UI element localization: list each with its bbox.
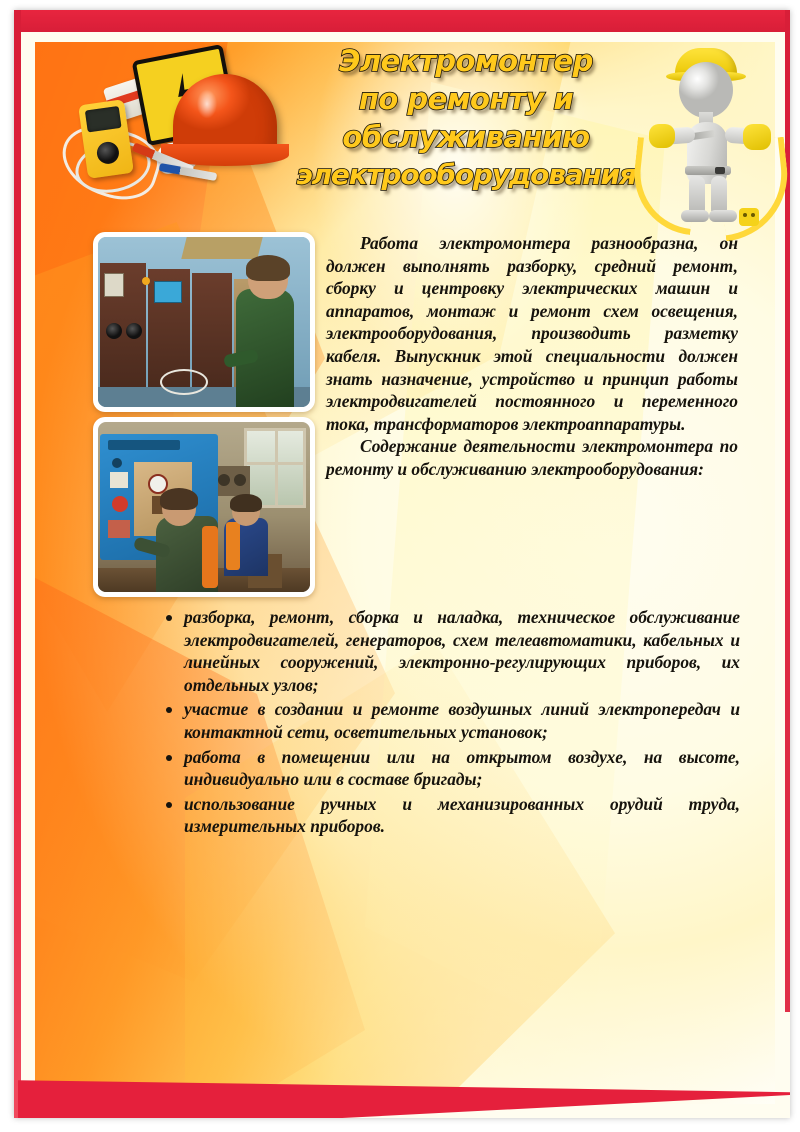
- mannequin-foot-left: [681, 210, 709, 222]
- photo-content: [98, 422, 310, 592]
- electrical-tools-collage: [61, 50, 279, 210]
- photo-content: [98, 237, 310, 407]
- power-plug-icon: [739, 208, 759, 226]
- hard-hat-highlight: [193, 84, 221, 124]
- frame-left-bar: [14, 10, 21, 1118]
- first-student-hair: [160, 488, 198, 510]
- machine-dial: [218, 474, 230, 486]
- title-line-2: по ремонту и: [271, 80, 661, 118]
- mannequin-foot-right: [709, 210, 737, 222]
- machine-dial: [234, 474, 246, 486]
- paragraph-2: Содержание деятельности электромонтера п…: [326, 435, 738, 480]
- panel-red-button: [112, 496, 128, 512]
- multimeter-dial: [96, 140, 121, 165]
- body-text-block: Работа электромонтера разнообразна, он д…: [326, 232, 738, 481]
- yellow-glove-left: [649, 124, 675, 148]
- second-student-hair: [230, 494, 262, 512]
- tool-belt: [685, 166, 731, 175]
- rotary-switch: [126, 323, 142, 339]
- paragraph-1: Работа электромонтера разнообразна, он д…: [326, 232, 738, 435]
- poster-root: Электромонтер по ремонту и обслуживанию …: [0, 0, 800, 1132]
- 3d-electrician-mannequin: [639, 44, 779, 222]
- title-line-4: электрооборудования: [271, 156, 661, 194]
- panel-meter: [104, 273, 124, 297]
- indicator-lamp: [142, 277, 150, 285]
- student-hair: [246, 255, 290, 281]
- multimeter-screen: [85, 106, 122, 133]
- yellow-glove-right: [743, 124, 771, 150]
- students-at-training-panels-photo: [93, 417, 315, 597]
- coiled-cord: [160, 369, 208, 395]
- list-item: использование ручных и механизированных …: [160, 793, 740, 838]
- mannequin-head: [679, 62, 733, 118]
- poster-header: Электромонтер по ремонту и обслуживанию …: [21, 32, 785, 228]
- student-in-green-coveralls: [236, 289, 294, 407]
- list-item: работа в помещении или на открытом возду…: [160, 746, 740, 791]
- photo-ceiling-beam: [181, 237, 262, 259]
- second-student-hi-vis-stripe: [226, 522, 240, 570]
- title-line-3: обслуживанию: [271, 118, 661, 156]
- panel-label: [110, 472, 128, 488]
- blue-control-panel: [154, 281, 182, 303]
- first-student-hi-vis-stripe: [202, 526, 218, 588]
- poster-title: Электромонтер по ремонту и обслуживанию …: [271, 42, 661, 194]
- duties-bullet-list: разборка, ремонт, сборка и наладка, техн…: [160, 606, 740, 840]
- list-item: участие в создании и ремонте воздушных л…: [160, 698, 740, 743]
- panel-switch-row: [108, 440, 180, 450]
- panel-button: [112, 458, 122, 468]
- orange-hard-hat-icon: [173, 74, 277, 162]
- title-line-1: Электромонтер: [271, 42, 661, 80]
- student-at-electrical-cabinets-photo: [93, 232, 315, 412]
- panel-warning-label: [108, 520, 130, 538]
- list-item: разборка, ремонт, сборка и наладка, техн…: [160, 606, 740, 696]
- rotary-switch: [106, 323, 122, 339]
- frame-top-bar: [14, 10, 790, 32]
- window-mullion: [275, 431, 278, 505]
- window-mullion: [247, 462, 303, 465]
